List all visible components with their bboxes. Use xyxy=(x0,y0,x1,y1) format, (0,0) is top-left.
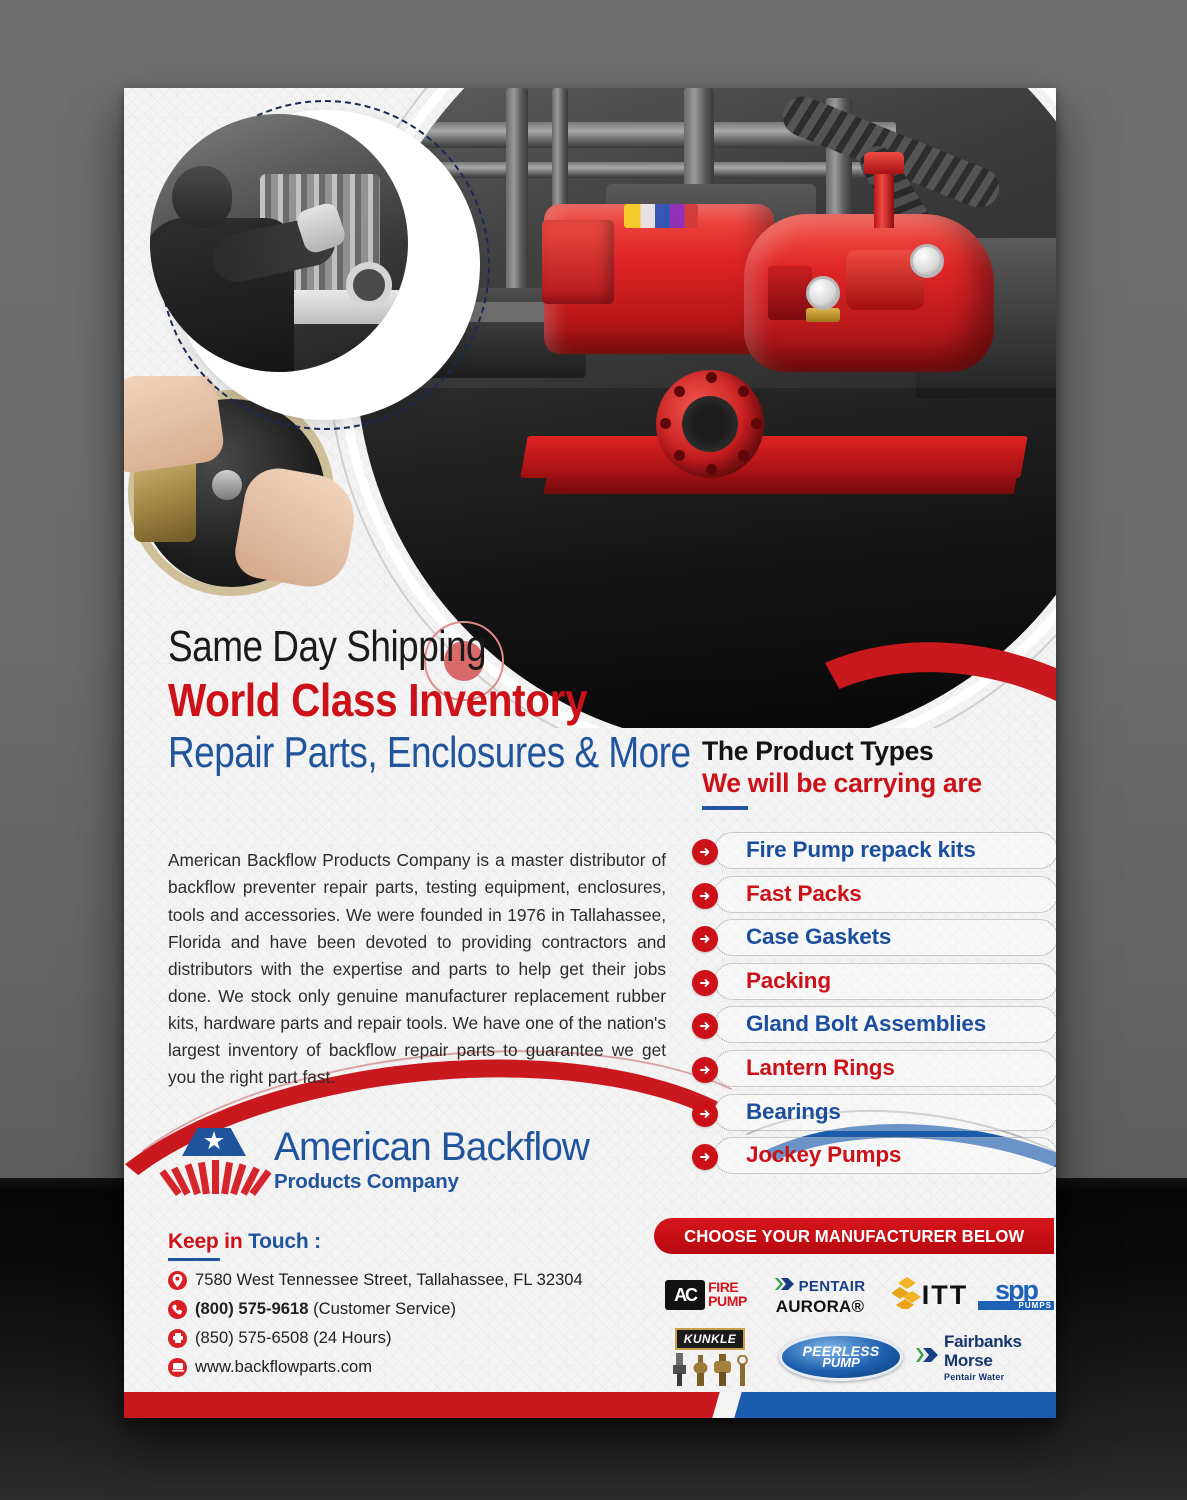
spp-name: spp xyxy=(978,1280,1054,1302)
product-type-row[interactable]: Jockey Pumps xyxy=(692,1135,1056,1179)
arrow-right-icon xyxy=(692,883,718,909)
spp-sub: PUMPS xyxy=(978,1301,1054,1310)
pentair-chevron-icon xyxy=(775,1276,795,1297)
product-type-row[interactable]: Bearings xyxy=(692,1092,1056,1136)
keep-in-touch-red: Keep in xyxy=(168,1230,248,1253)
keep-in-touch-blue: Touch : xyxy=(248,1230,321,1253)
logo-fairbanks-morse[interactable]: Fairbanks Morse Pentair Water xyxy=(916,1333,1054,1382)
product-type-label: Packing xyxy=(746,968,831,994)
kunkle-valve-icons xyxy=(671,1353,749,1387)
itt-diamond-icon xyxy=(892,1277,922,1314)
contact-fax: (850) 575-6508 (24 Hours) xyxy=(195,1328,391,1348)
peerless-line2: PUMP xyxy=(822,1357,860,1369)
logo-itt[interactable]: ITT xyxy=(882,1277,978,1314)
manufacturer-row-2: KUNKLE PEERLESS PUMP xyxy=(654,1326,1054,1388)
logo-pentair-aurora[interactable]: PENTAIR AURORA® xyxy=(758,1276,882,1315)
footer-bar-blue xyxy=(730,1392,1056,1418)
arrow-right-icon xyxy=(692,1013,718,1039)
arrow-right-icon xyxy=(692,926,718,952)
contact-address: 7580 West Tennessee Street, Tallahassee,… xyxy=(195,1270,583,1290)
company-description: American Backflow Products Company is a … xyxy=(168,847,666,1091)
logo-kunkle[interactable]: KUNKLE xyxy=(654,1328,766,1387)
arrow-right-icon xyxy=(692,1057,718,1083)
logo-peerless-pump[interactable]: PEERLESS PUMP xyxy=(766,1333,916,1381)
manufacturer-banner-label: CHOOSE YOUR MANUFACTURER BELOW xyxy=(684,1226,1024,1247)
product-types-underline xyxy=(702,806,748,810)
keep-in-touch-heading: Keep in Touch : xyxy=(168,1230,628,1254)
product-type-label: Fire Pump repack kits xyxy=(746,837,976,863)
ac-line2: PUMP xyxy=(708,1295,747,1309)
arrow-right-icon xyxy=(692,839,718,865)
arrow-right-icon xyxy=(692,1101,718,1127)
logo-tagline: Products Company xyxy=(274,1170,599,1194)
contact-fax-row[interactable]: (850) 575-6508 (24 Hours) xyxy=(168,1328,628,1348)
pentair-name: PENTAIR xyxy=(799,1279,866,1294)
product-type-label: Jockey Pumps xyxy=(746,1142,901,1168)
product-type-row[interactable]: Packing xyxy=(692,961,1056,1005)
product-types-title-line1: The Product Types xyxy=(702,736,1050,767)
product-type-label: Lantern Rings xyxy=(746,1055,895,1081)
headline-line-3: Repair Parts, Enclosures & More xyxy=(168,729,605,777)
flyer-page: Same Day Shipping World Class Inventory … xyxy=(124,88,1056,1418)
manufacturer-logos: AC FIRE PUMP PENTAIR AURORA® xyxy=(654,1264,1054,1388)
headline-line-1: Same Day Shipping xyxy=(168,624,605,671)
fairbanks-sub: Pentair Water xyxy=(944,1373,1054,1382)
product-type-row[interactable]: Lantern Rings xyxy=(692,1048,1056,1092)
logo-ac-fire-pump[interactable]: AC FIRE PUMP xyxy=(654,1280,758,1310)
contact-phone-row[interactable]: (800) 575-9618 (Customer Service) xyxy=(168,1299,628,1319)
contact-phone-number: (800) 575-9618 xyxy=(195,1299,308,1318)
manufacturer-row-1: AC FIRE PUMP PENTAIR AURORA® xyxy=(654,1264,1054,1326)
product-type-label: Case Gaskets xyxy=(746,924,891,950)
website-icon xyxy=(168,1358,187,1377)
product-types-list: Fire Pump repack kitsFast PacksCase Gask… xyxy=(692,830,1056,1179)
screenshot-scene: Same Day Shipping World Class Inventory … xyxy=(0,0,1187,1500)
product-type-row[interactable]: Fire Pump repack kits xyxy=(692,830,1056,874)
itt-name: ITT xyxy=(922,1280,969,1311)
contact-website: www.backflowparts.com xyxy=(195,1357,372,1377)
technician-photo xyxy=(150,114,408,372)
product-types-heading: The Product Types We will be carrying ar… xyxy=(702,736,1050,810)
keep-in-touch-underline xyxy=(168,1258,220,1261)
logo-spp-pumps[interactable]: spp PUMPS xyxy=(978,1280,1054,1311)
contact-address-row: 7580 West Tennessee Street, Tallahassee,… xyxy=(168,1270,628,1290)
contact-website-row[interactable]: www.backflowparts.com xyxy=(168,1357,628,1377)
product-type-label: Bearings xyxy=(746,1099,841,1125)
product-types-title-line2: We will be carrying are xyxy=(702,768,1050,799)
headline-line-2: World Class Inventory xyxy=(168,675,626,727)
location-pin-icon xyxy=(168,1271,187,1290)
headline-block: Same Day Shipping World Class Inventory … xyxy=(168,624,688,778)
company-logo: American Backflow Products Company xyxy=(168,1126,599,1196)
ac-badge: AC xyxy=(665,1280,705,1310)
fax-icon xyxy=(168,1329,187,1348)
logo-company-name: American Backflow xyxy=(274,1127,589,1167)
phone-icon xyxy=(168,1300,187,1319)
contact-phone-note: (Customer Service) xyxy=(308,1299,456,1318)
fairbanks-name: Fairbanks Morse xyxy=(944,1332,1022,1370)
contact-block: Keep in Touch : 7580 West Tennessee Stre… xyxy=(168,1230,628,1418)
arrow-right-icon xyxy=(692,1144,718,1170)
logo-ray xyxy=(212,1160,219,1194)
fairbanks-chevron-icon xyxy=(916,1345,944,1370)
product-type-label: Fast Packs xyxy=(746,881,862,907)
product-type-label: Gland Bolt Assemblies xyxy=(746,1011,986,1037)
footer-bar-red xyxy=(124,1392,724,1418)
product-type-row[interactable]: Case Gaskets xyxy=(692,917,1056,961)
product-type-row[interactable]: Gland Bolt Assemblies xyxy=(692,1004,1056,1048)
kunkle-name: KUNKLE xyxy=(675,1328,745,1350)
aurora-name: AURORA® xyxy=(776,1298,865,1315)
logo-mark-icon xyxy=(168,1126,260,1196)
product-type-row[interactable]: Fast Packs xyxy=(692,874,1056,918)
arrow-right-icon xyxy=(692,970,718,996)
manufacturer-banner: CHOOSE YOUR MANUFACTURER BELOW xyxy=(654,1218,1054,1254)
